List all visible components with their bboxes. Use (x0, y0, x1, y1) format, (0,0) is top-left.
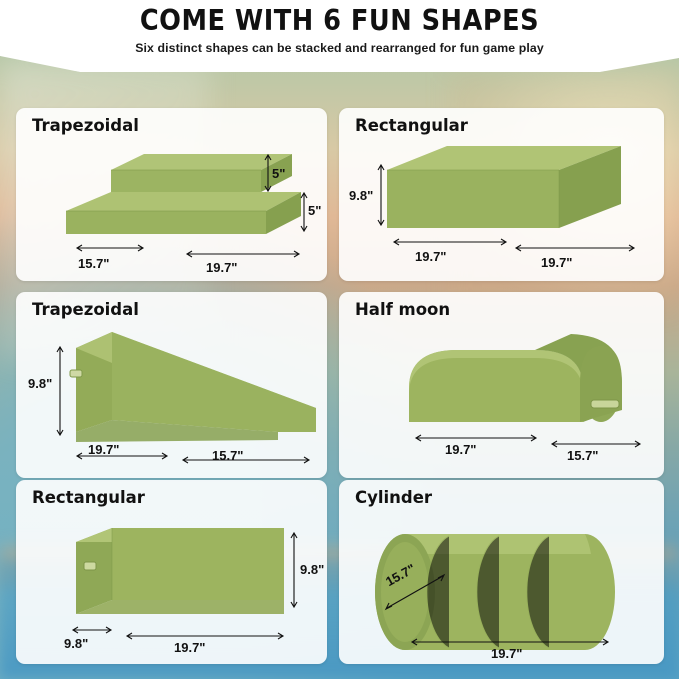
dim-height: 9.8" (300, 562, 324, 577)
dim-width: 19.7" (174, 640, 205, 655)
dim-height-lower: 5" (308, 203, 321, 218)
card-trapezoidal-steps: Trapezoidal 5" (16, 108, 327, 281)
dim-length: 19.7" (445, 442, 476, 457)
dim-width: 19.7" (541, 255, 572, 270)
half-moon-illustration (339, 292, 664, 478)
dim-height: 9.8" (349, 188, 373, 203)
card-trapezoidal-wedge: Trapezoidal 9.8" 19.7" 15.7" (16, 292, 327, 478)
dim-depth: 15.7" (78, 256, 109, 271)
trapezoidal-wedge-illustration (16, 292, 327, 478)
dim-height: 9.8" (28, 376, 52, 391)
dim-depth: 19.7" (88, 442, 119, 457)
dim-depth: 19.7" (415, 249, 446, 264)
dim-length: 19.7" (491, 646, 522, 661)
dim-height-upper: 5" (272, 166, 285, 181)
rectangular-bar-illustration (16, 480, 327, 664)
card-cylinder: Cylinder 15.7" 19.7" (339, 480, 664, 664)
card-rectangular-bar: Rectangular 9.8" 9.8" 19.7" (16, 480, 327, 664)
page-title: COME WITH 6 FUN SHAPES (0, 4, 679, 37)
dim-depth: 15.7" (567, 448, 598, 463)
page-subtitle: Six distinct shapes can be stacked and r… (0, 41, 679, 55)
rectangular-block-illustration (339, 108, 664, 281)
dim-width: 19.7" (206, 260, 237, 275)
dim-width: 15.7" (212, 448, 243, 463)
card-rectangular-block: Rectangular 9.8" 19.7" 19.7" (339, 108, 664, 281)
card-half-moon: Half moon 19.7" 15.7" (339, 292, 664, 478)
trapezoidal-steps-illustration (16, 108, 327, 281)
dim-depth: 9.8" (64, 636, 88, 651)
